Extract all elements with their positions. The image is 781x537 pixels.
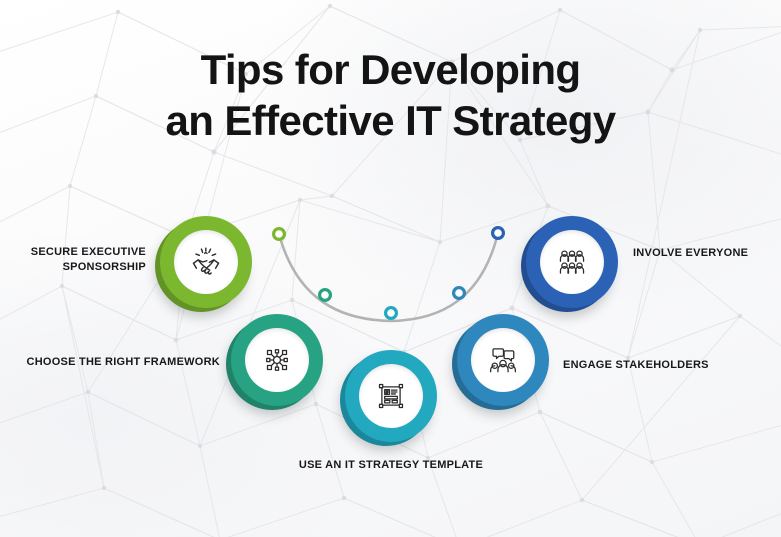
curve-dots (274, 228, 504, 319)
curve-dot-choose-the-right-framework (320, 290, 331, 301)
circle-inner-disc (174, 230, 238, 294)
step-label-secure-executive-sponsorship: SECURE EXECUTIVE SPONSORSHIP (20, 245, 146, 275)
step-circle-use-an-it-strategy-template[interactable] (345, 350, 437, 442)
step-circle-choose-the-right-framework[interactable] (231, 314, 323, 406)
step-circle-secure-executive-sponsorship[interactable] (160, 216, 252, 308)
curve-dot-secure-executive-sponsorship (274, 229, 285, 240)
step-label-choose-the-right-framework: CHOOSE THE RIGHT FRAMEWORK (24, 355, 220, 370)
group-of-people-icon (553, 243, 591, 281)
template-layout-icon (372, 377, 410, 415)
step-label-engage-stakeholders: ENGAGE STAKEHOLDERS (563, 358, 763, 373)
circle-inner-disc (359, 364, 423, 428)
step-label-involve-everyone: INVOLVE EVERYONE (633, 246, 781, 261)
curve-dot-engage-stakeholders (454, 288, 465, 299)
curve-dot-involve-everyone (493, 228, 504, 239)
page-title: Tips for Developing an Effective IT Stra… (0, 46, 781, 145)
framework-network-icon (258, 341, 296, 379)
stakeholders-discussion-icon (484, 341, 522, 379)
circle-inner-disc (245, 328, 309, 392)
infographic-canvas: Tips for Developing an Effective IT Stra… (0, 0, 781, 537)
curve-path (279, 233, 498, 321)
title-line-1: Tips for Developing (0, 46, 781, 94)
step-circle-engage-stakeholders[interactable] (457, 314, 549, 406)
circle-inner-disc (471, 328, 535, 392)
step-circle-involve-everyone[interactable] (526, 216, 618, 308)
curve-dot-use-an-it-strategy-template (386, 308, 397, 319)
step-label-use-an-it-strategy-template: USE AN IT STRATEGY TEMPLATE (281, 458, 501, 473)
title-line-2: an Effective IT Strategy (0, 97, 781, 145)
handshake-icon (186, 242, 226, 282)
circle-inner-disc (540, 230, 604, 294)
